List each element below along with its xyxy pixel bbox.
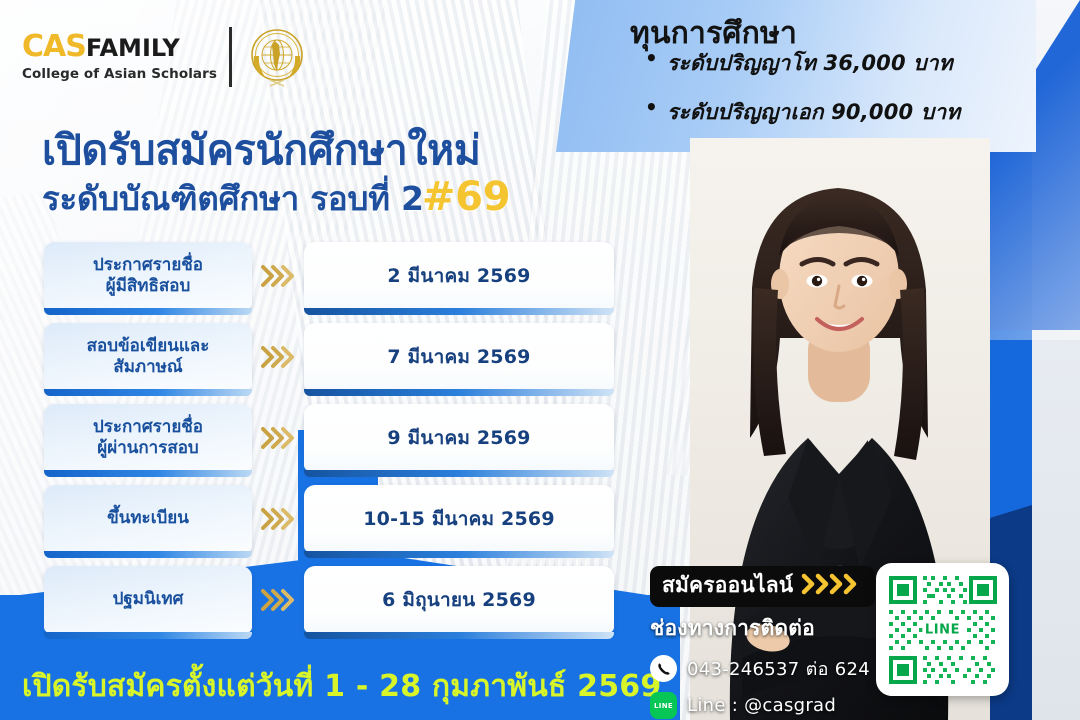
scholarship-item: • ระดับปริญญาโท 36,000 บาท bbox=[645, 47, 1025, 80]
schedule-step-card[interactable]: สอบข้อเขียนและ สัมภาษณ์ bbox=[44, 323, 252, 390]
schedule-date-card[interactable]: 9 มีนาคม 2569 bbox=[304, 404, 614, 471]
bullet-icon: • bbox=[645, 96, 658, 119]
schedule-date-value: 9 มีนาคม 2569 bbox=[387, 423, 530, 453]
qr-code-image: LINE bbox=[887, 574, 999, 686]
contact-phone-value: 043-246537 ต่อ 624 bbox=[687, 654, 870, 683]
brand-logo: CASFAMILY College of Asian Scholars bbox=[22, 24, 310, 90]
scholarship-item-label: ระดับปริญญาโท 36,000 บาท bbox=[667, 47, 953, 80]
line-app-icon: LINE bbox=[650, 692, 677, 719]
scholarship-list: • ระดับปริญญาโท 36,000 บาท • ระดับปริญญา… bbox=[645, 47, 1025, 145]
logo-cas-text: CAS bbox=[22, 29, 86, 64]
chevron-right-icon bbox=[252, 426, 304, 450]
schedule-row: ปฐมนิเทศ 6 มิถุนายน 2569 bbox=[44, 566, 614, 633]
scholarship-item: • ระดับปริญญาเอก 90,000 บาท bbox=[645, 96, 1025, 129]
year-badge: #69 bbox=[422, 174, 511, 220]
headline-line-2-text: ระดับบัณฑิตศึกษา รอบที่ 2 bbox=[42, 179, 424, 218]
schedule-step-label: ประกาศรายชื่อ ผู้ผ่านการสอบ bbox=[93, 417, 203, 457]
scholarship-item-label: ระดับปริญญาเอก 90,000 บาท bbox=[667, 96, 960, 129]
apply-online-button[interactable]: สมัครออนไลน์ bbox=[650, 566, 875, 607]
chevron-right-icon bbox=[252, 588, 304, 612]
schedule-step-card[interactable]: ปฐมนิเทศ bbox=[44, 566, 252, 633]
apply-online-label: สมัครออนไลน์ bbox=[662, 569, 793, 602]
schedule-step-label: สอบข้อเขียนและ สัมภาษณ์ bbox=[87, 336, 210, 376]
schedule-date-card[interactable]: 10-15 มีนาคม 2569 bbox=[304, 485, 614, 552]
chevron-right-icon bbox=[801, 573, 863, 599]
schedule-row: ประกาศรายชื่อ ผู้มีสิทธิสอบ 2 มีนาคม 256… bbox=[44, 242, 614, 309]
schedule-date-value: 6 มิถุนายน 2569 bbox=[382, 585, 536, 615]
schedule-date-value: 2 มีนาคม 2569 bbox=[387, 261, 530, 291]
headline-block: เปิดรับสมัครนักศึกษาใหม่ ระดับบัณฑิตศึกษ… bbox=[42, 128, 602, 220]
line-icon-label: LINE bbox=[654, 702, 673, 710]
schedule-date-card[interactable]: 7 มีนาคม 2569 bbox=[304, 323, 614, 390]
headline-line-1: เปิดรับสมัครนักศึกษาใหม่ bbox=[42, 128, 602, 172]
bullet-icon: • bbox=[645, 47, 658, 70]
contact-block: สมัครออนไลน์ ช่องทางการติดต่อ 043-246537… bbox=[650, 566, 900, 719]
application-period-banner: เปิดรับสมัครตั้งแต่วันที่ 1 - 28 กุมภาพั… bbox=[0, 652, 680, 720]
schedule-step-label: ประกาศรายชื่อ ผู้มีสิทธิสอบ bbox=[93, 255, 203, 295]
qr-center-label: LINE bbox=[922, 621, 963, 638]
chevron-right-icon bbox=[252, 507, 304, 531]
university-crest-icon bbox=[244, 24, 310, 90]
logo-family-text: FAMILY bbox=[86, 34, 180, 62]
logo-subtitle: College of Asian Scholars bbox=[22, 66, 217, 82]
schedule-row: สอบข้อเขียนและ สัมภาษณ์ 7 มีนาคม 2569 bbox=[44, 323, 614, 390]
schedule-date-value: 7 มีนาคม 2569 bbox=[387, 342, 530, 372]
schedule-row: ขึ้นทะเบียน 10-15 มีนาคม 2569 bbox=[44, 485, 614, 552]
contact-phone-row[interactable]: 043-246537 ต่อ 624 bbox=[650, 654, 900, 683]
chevron-right-icon bbox=[252, 264, 304, 288]
poster-canvas: CASFAMILY College of Asian Scholars ทุนก… bbox=[0, 0, 1080, 720]
phone-icon bbox=[650, 655, 677, 682]
contact-line-value: Line : @casgrad bbox=[687, 695, 836, 716]
schedule-step-card[interactable]: ประกาศรายชื่อ ผู้มีสิทธิสอบ bbox=[44, 242, 252, 309]
schedule-step-label: ขึ้นทะเบียน bbox=[107, 508, 189, 528]
chevron-right-icon bbox=[252, 345, 304, 369]
contact-channel-heading: ช่องทางการติดต่อ bbox=[650, 612, 900, 645]
contact-line-row[interactable]: LINE Line : @casgrad bbox=[650, 692, 900, 719]
application-period-text: เปิดรับสมัครตั้งแต่วันที่ 1 - 28 กุมภาพั… bbox=[22, 663, 661, 710]
schedule-step-label: ปฐมนิเทศ bbox=[113, 589, 184, 609]
schedule-date-card[interactable]: 2 มีนาคม 2569 bbox=[304, 242, 614, 309]
schedule-table: ประกาศรายชื่อ ผู้มีสิทธิสอบ 2 มีนาคม 256… bbox=[44, 242, 614, 647]
logo-wordmark: CASFAMILY College of Asian Scholars bbox=[22, 32, 217, 82]
line-qr-code-card[interactable]: LINE bbox=[876, 563, 1009, 696]
schedule-step-card[interactable]: ขึ้นทะเบียน bbox=[44, 485, 252, 552]
schedule-row: ประกาศรายชื่อ ผู้ผ่านการสอบ 9 มีนาคม 256… bbox=[44, 404, 614, 471]
schedule-date-card[interactable]: 6 มิถุนายน 2569 bbox=[304, 566, 614, 633]
schedule-step-card[interactable]: ประกาศรายชื่อ ผู้ผ่านการสอบ bbox=[44, 404, 252, 471]
schedule-date-value: 10-15 มีนาคม 2569 bbox=[363, 504, 555, 534]
logo-divider bbox=[229, 27, 232, 87]
headline-line-2: ระดับบัณฑิตศึกษา รอบที่ 2#69 bbox=[42, 174, 602, 220]
logo-title-line: CASFAMILY bbox=[22, 32, 217, 62]
